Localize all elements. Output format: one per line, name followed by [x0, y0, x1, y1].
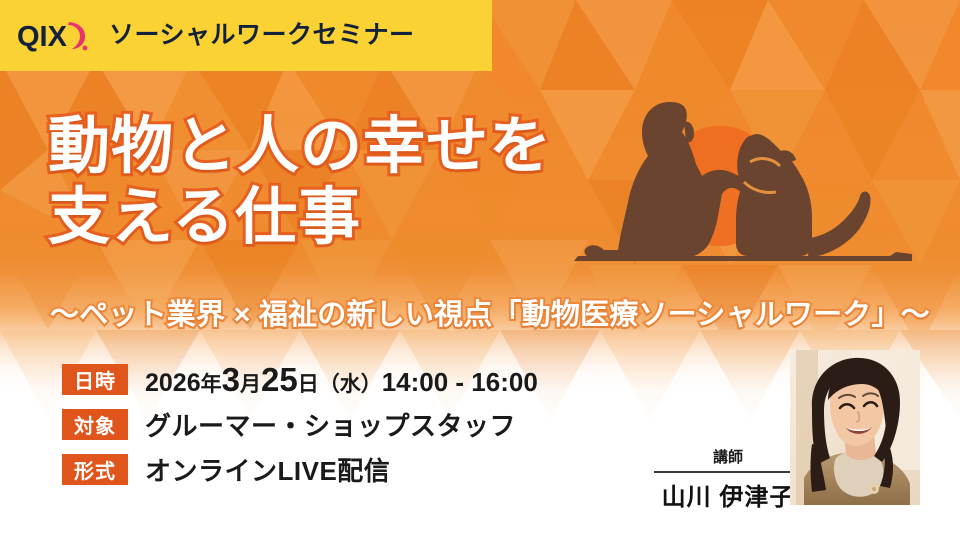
date-time: 14:00 - 16:00	[382, 367, 538, 397]
info-badge-format: 形式	[62, 454, 128, 485]
speaker-block: 講師 山川 伊津子	[654, 448, 802, 512]
info-row-audience: 対象 グルーマー・ショップスタッフ	[62, 405, 538, 444]
info-row-datetime: 日時 2026年3月25日（水）14:00 - 16:00	[62, 360, 538, 399]
header-title: ソーシャルワークセミナー	[109, 23, 415, 48]
speaker-name: 山川 伊津子	[654, 477, 802, 512]
seminar-poster: QIX ソーシャルワークセミナー 動物と人の幸せを 支える仕事 〜ペット業界 ×…	[0, 0, 960, 540]
info-badge-datetime: 日時	[62, 364, 128, 395]
qix-logo[interactable]: QIX	[17, 19, 93, 53]
info-value-format: オンラインLIVE配信	[145, 451, 390, 488]
info-value-audience: グルーマー・ショップスタッフ	[145, 406, 516, 443]
speaker-photo	[790, 350, 920, 505]
speaker-portrait-image	[790, 350, 920, 505]
date-month: 3	[222, 361, 240, 398]
hero-title-line-1: 動物と人の幸せを	[48, 112, 608, 183]
hero-title-line-2: 支える仕事	[48, 183, 608, 254]
date-year: 2026	[145, 369, 201, 397]
info-list: 日時 2026年3月25日（水）14:00 - 16:00 対象 グルーマー・シ…	[62, 360, 538, 495]
date-year-unit: 年	[201, 373, 222, 396]
svg-text:QIX: QIX	[17, 21, 68, 53]
hero-title-block: 動物と人の幸せを 支える仕事	[48, 112, 608, 253]
qix-logo-icon: QIX	[17, 19, 93, 53]
info-row-format: 形式 オンラインLIVE配信	[62, 450, 538, 489]
speaker-label: 講師	[654, 448, 802, 468]
date-day-unit: 日	[298, 373, 319, 396]
date-day: 25	[261, 361, 298, 398]
hero-subtitle: 〜ペット業界 × 福祉の新しい視点「動物医療ソーシャルワーク」〜	[50, 300, 930, 332]
date-month-unit: 月	[240, 373, 261, 396]
speaker-divider	[654, 471, 802, 473]
person-and-dog-silhouette-illustration	[560, 78, 960, 283]
header-band: QIX ソーシャルワークセミナー	[0, 0, 492, 71]
date-weekday: （水）	[319, 373, 382, 396]
info-value-datetime: 2026年3月25日（水）14:00 - 16:00	[145, 361, 538, 399]
info-badge-audience: 対象	[62, 409, 128, 440]
